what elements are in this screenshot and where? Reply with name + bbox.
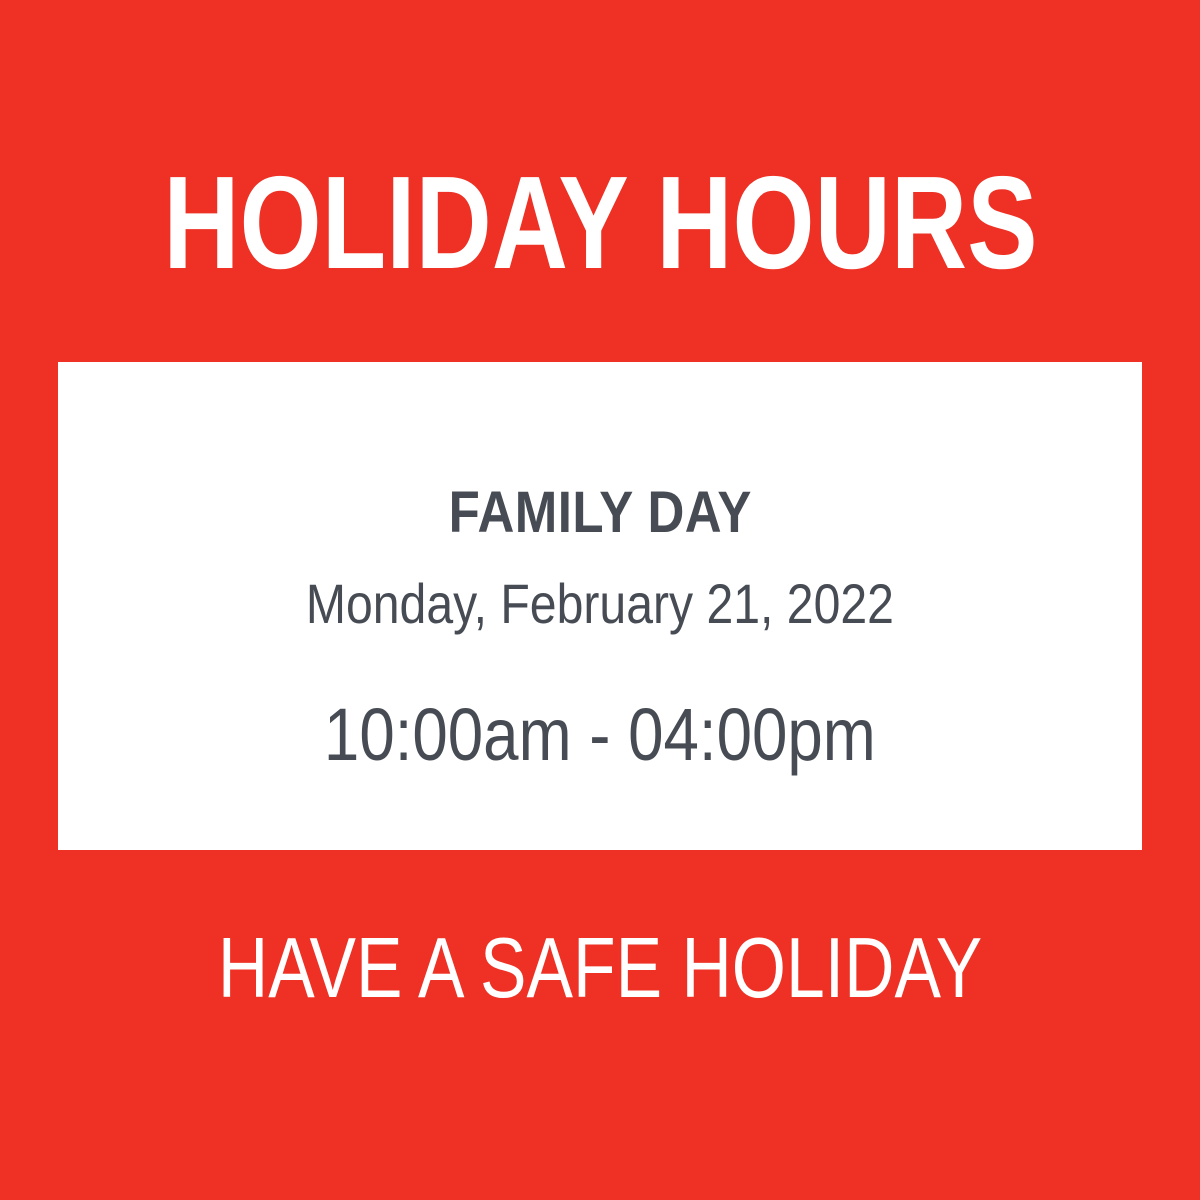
holiday-date-text: Monday, February 21, 2022 (306, 576, 894, 632)
holiday-date: Monday, February 21, 2022 (58, 576, 1142, 632)
holiday-hours-text: 10:00am - 04:00pm (324, 698, 876, 772)
holiday-info-card-inner: FAMILY DAY Monday, February 21, 2022 10:… (58, 362, 1142, 850)
holiday-name-text: FAMILY DAY (448, 484, 751, 542)
holiday-hours: 10:00am - 04:00pm (58, 698, 1142, 772)
holiday-hours-poster: HOLIDAY HOURS FAMILY DAY Monday, Februar… (0, 0, 1200, 1200)
holiday-info-card: FAMILY DAY Monday, February 21, 2022 10:… (58, 362, 1142, 850)
page-title: HOLIDAY HOURS (163, 157, 1037, 289)
headline-container: HOLIDAY HOURS (0, 158, 1200, 288)
holiday-name: FAMILY DAY (58, 484, 1142, 542)
footer-container: HAVE A SAFE HOLIDAY (0, 925, 1200, 1011)
footer-message: HAVE A SAFE HOLIDAY (218, 926, 982, 1011)
